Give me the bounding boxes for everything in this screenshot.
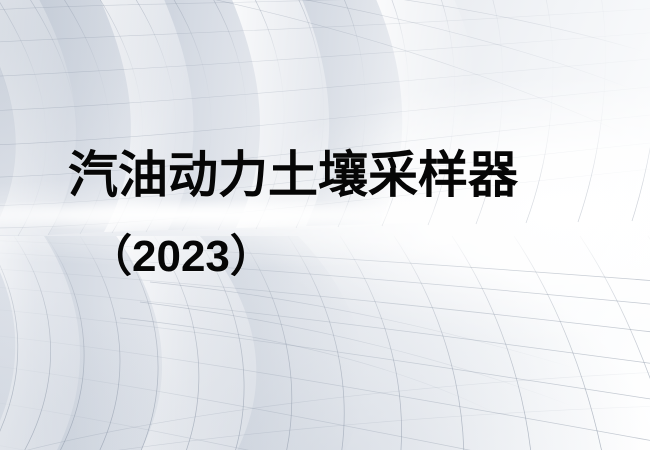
page-subtitle-year: （2023） — [88, 231, 274, 283]
title-block: 汽油动力土壤采样器 （2023） — [0, 0, 650, 450]
page-title: 汽油动力土壤采样器 — [68, 146, 518, 204]
title-slide: 汽油动力土壤采样器 （2023） — [0, 0, 650, 450]
